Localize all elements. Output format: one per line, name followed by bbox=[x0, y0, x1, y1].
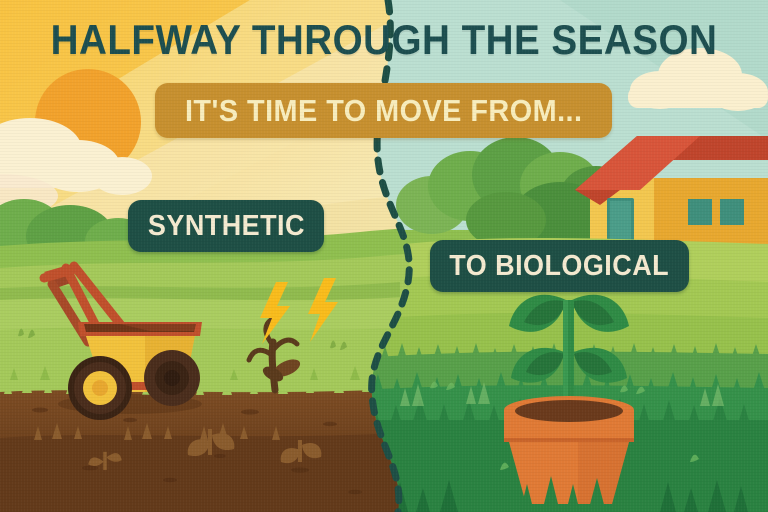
subtitle-banner: IT'S TIME TO MOVE FROM... bbox=[155, 83, 612, 138]
house-window-right bbox=[720, 199, 744, 225]
badge-synthetic-label: SYNTHETIC bbox=[147, 210, 304, 243]
cart-wheel-back bbox=[144, 350, 200, 406]
page-title: HALFWAY THROUGH THE SEASON bbox=[31, 19, 738, 61]
badge-biological-label: TO BIOLOGICAL bbox=[450, 250, 670, 283]
poster-canvas: HALFWAY THROUGH THE SEASON IT'S TIME TO … bbox=[0, 0, 768, 512]
house-window-left bbox=[688, 199, 712, 225]
badge-synthetic: SYNTHETIC bbox=[128, 200, 324, 252]
cart-wheel-front bbox=[68, 356, 132, 420]
left-grass-strip bbox=[0, 330, 420, 392]
badge-biological: TO BIOLOGICAL bbox=[430, 240, 689, 292]
subtitle-banner-label: IT'S TIME TO MOVE FROM... bbox=[185, 93, 583, 129]
